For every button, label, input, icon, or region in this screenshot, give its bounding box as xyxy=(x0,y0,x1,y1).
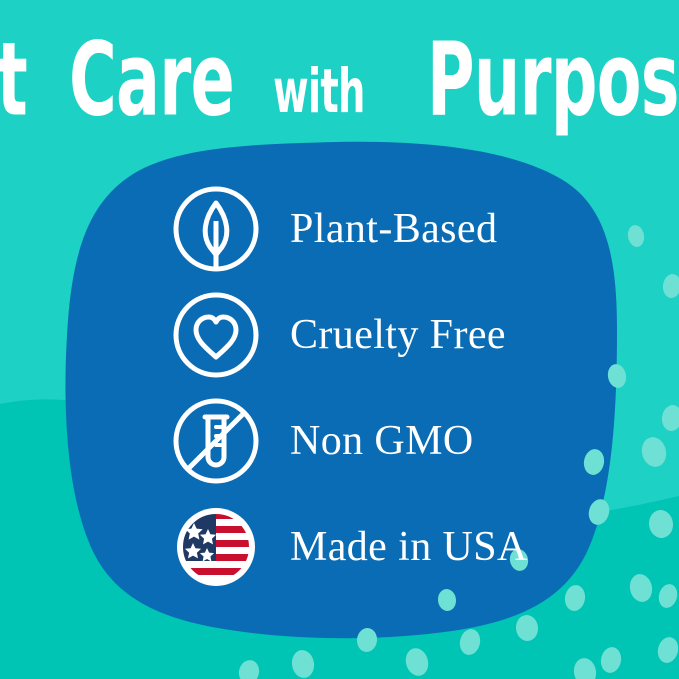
leaf-icon xyxy=(168,181,264,277)
feature-row-cruelty-free: Cruelty Free xyxy=(168,282,588,388)
feature-row-made-in-usa: Made in USA xyxy=(168,494,588,600)
feature-list: Plant-Based Cruelty Free xyxy=(168,176,588,600)
feature-label-made-in-usa: Made in USA xyxy=(290,526,528,568)
feature-row-non-gmo: Non GMO xyxy=(168,388,588,494)
headline-word-pet: Pet xyxy=(0,34,27,124)
pet-care-with-purpose-poster: Pet Care with Purpose ® Plant-Based Crue… xyxy=(0,0,679,679)
feature-label-cruelty-free: Cruelty Free xyxy=(290,314,506,356)
usa-flag-icon xyxy=(168,499,264,595)
heart-icon xyxy=(168,287,264,383)
feature-label-non-gmo: Non GMO xyxy=(290,420,474,462)
headline: Pet Care with Purpose ® xyxy=(0,14,679,124)
feature-label-plant-based: Plant-Based xyxy=(290,208,497,250)
headline-word-purpose: Purpose xyxy=(427,34,679,124)
headline-word-with: with xyxy=(273,67,365,120)
headline-word-care: Care xyxy=(69,34,234,124)
no-gmo-icon xyxy=(168,393,264,489)
feature-row-plant-based: Plant-Based xyxy=(168,176,588,282)
